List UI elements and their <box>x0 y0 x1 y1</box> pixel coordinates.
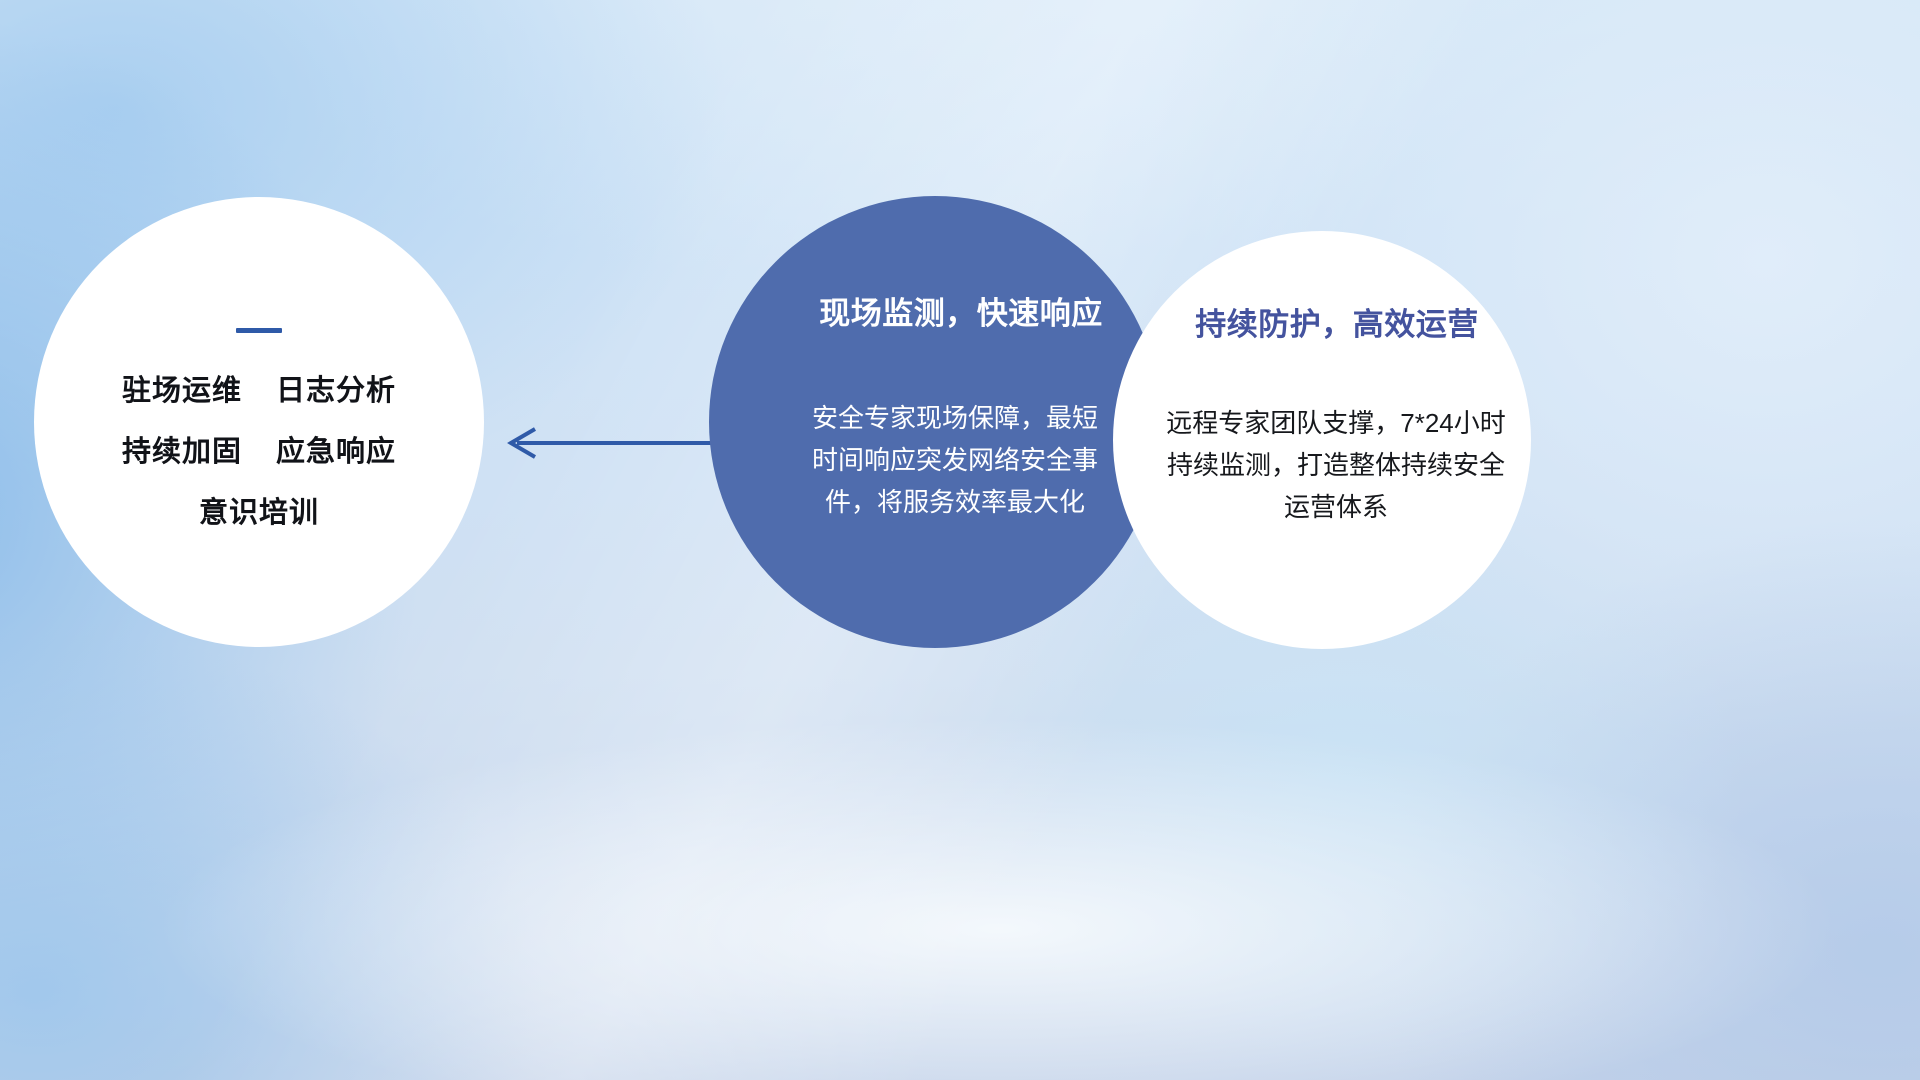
divider-dash-icon <box>236 328 282 333</box>
keyword-row-1: 驻场运维 日志分析 <box>122 377 396 406</box>
left-capability-circle[interactable]: 驻场运维 日志分析 持续加固 应急响应 意识培训 <box>34 197 484 647</box>
left-circle-content: 驻场运维 日志分析 持续加固 应急响应 意识培训 <box>34 197 484 647</box>
mid-onsite-monitoring-circle[interactable]: 现场监测，快速响应 安全专家现场保障，最短时间响应突发网络安全事件，将服务效率最… <box>709 196 1161 648</box>
arrow-left-icon <box>495 418 725 468</box>
mid-circle-title: 现场监测，快速响应 <box>819 288 1103 333</box>
mid-circle-body: 安全专家现场保障，最短时间响应突发网络安全事件，将服务效率最大化 <box>805 397 1105 523</box>
keyword-continuous-hardening: 持续加固 <box>122 438 242 467</box>
keyword-awareness-training: 意识培训 <box>199 499 319 528</box>
mid-circle-content: 现场监测，快速响应 安全专家现场保障，最短时间响应突发网络安全事件，将服务效率最… <box>709 196 1161 648</box>
keyword-row-3: 意识培训 <box>199 499 319 528</box>
right-continuous-protection-circle[interactable]: 持续防护，高效运营 远程专家团队支撑，7*24小时持续监测，打造整体持续安全运营… <box>1113 231 1531 649</box>
slide-canvas: 驻场运维 日志分析 持续加固 应急响应 意识培训 现场监测，快速响应 安全专家现… <box>0 0 1920 1080</box>
keyword-onsite-ops: 驻场运维 <box>122 377 242 406</box>
right-circle-title: 持续防护，高效运营 <box>1195 299 1479 344</box>
right-circle-body: 远程专家团队支撑，7*24小时持续监测，打造整体持续安全运营体系 <box>1156 402 1516 528</box>
keyword-log-analysis: 日志分析 <box>276 377 396 406</box>
keyword-row-2: 持续加固 应急响应 <box>122 438 396 467</box>
connector-arrow <box>495 418 725 468</box>
right-circle-content: 持续防护，高效运营 远程专家团队支撑，7*24小时持续监测，打造整体持续安全运营… <box>1113 231 1531 649</box>
keyword-emergency-response: 应急响应 <box>276 438 396 467</box>
